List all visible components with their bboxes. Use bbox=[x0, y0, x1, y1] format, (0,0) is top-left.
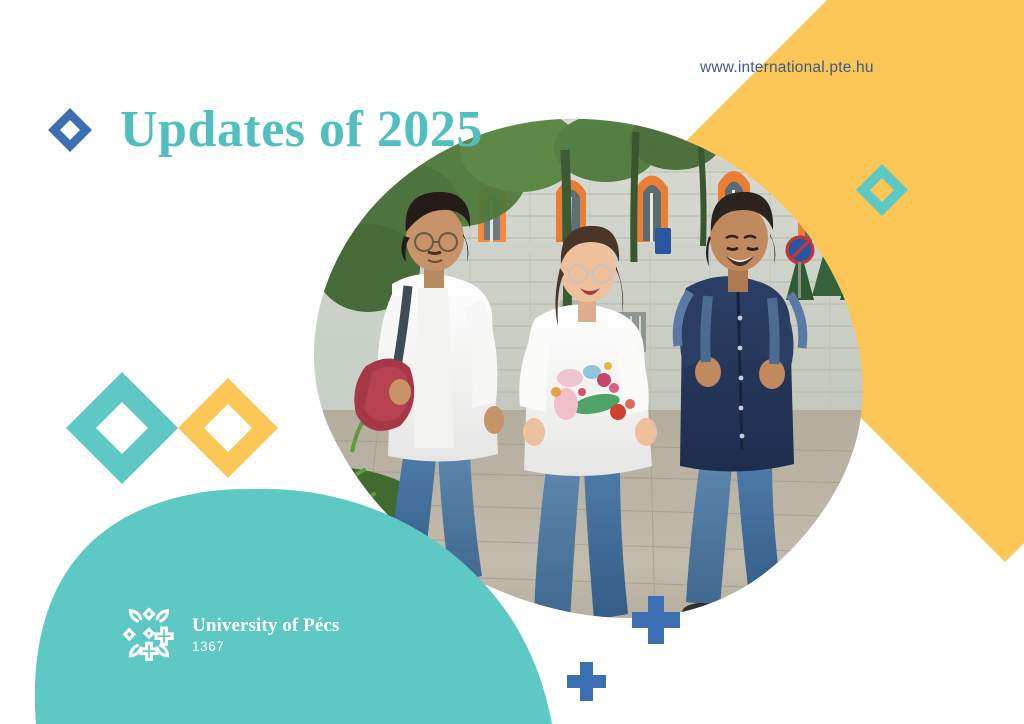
yellow-diamond-outline bbox=[178, 378, 278, 478]
title-block: Updates of 2025 bbox=[48, 104, 483, 156]
blue-plus-small bbox=[567, 662, 606, 701]
brand-text: University of Pécs 1367 bbox=[192, 615, 339, 655]
site-url[interactable]: www.international.pte.hu bbox=[700, 59, 874, 77]
brand-logo-lockup[interactable]: University of Pécs 1367 bbox=[120, 606, 339, 664]
diamond-outline-icon bbox=[48, 108, 92, 152]
teal-diamond-outline bbox=[66, 372, 178, 484]
brand-year: 1367 bbox=[192, 639, 339, 655]
poster-canvas: www.international.pte.hu Updates of 2025 bbox=[0, 0, 1024, 724]
brand-name: University of Pécs bbox=[192, 615, 339, 636]
page-title: Updates of 2025 bbox=[120, 104, 483, 156]
pte-floral-mandala-icon bbox=[120, 606, 178, 664]
